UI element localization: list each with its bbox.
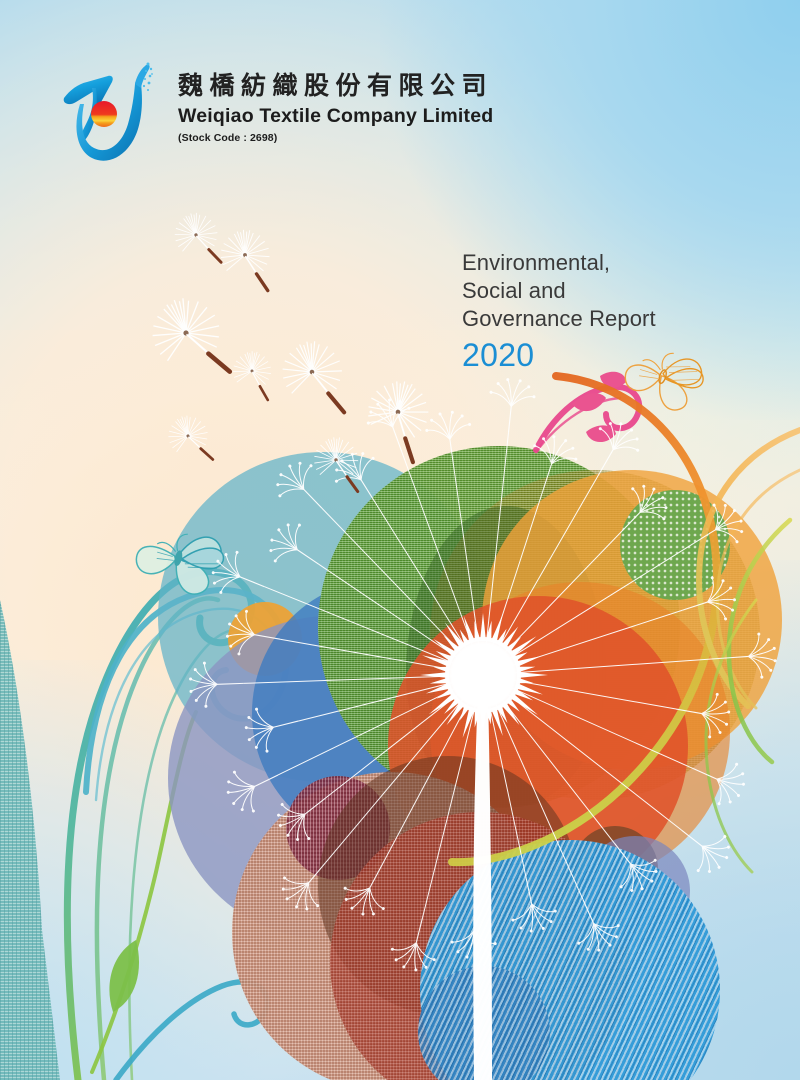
company-name-en: Weiqiao Textile Company Limited <box>178 104 493 128</box>
company-name-cn: 魏橋紡織股份有限公司 <box>178 72 493 100</box>
title-line-3: Governance Report <box>462 305 656 333</box>
brand-text-block: 魏橋紡織股份有限公司 Weiqiao Textile Company Limit… <box>178 58 493 144</box>
stock-code-label: (Stock Code : 2698) <box>178 132 493 144</box>
report-title-block: Environmental, Social and Governance Rep… <box>462 249 656 375</box>
sun-icon <box>91 101 117 127</box>
weiqiao-w-sun-logo <box>56 58 164 163</box>
brand-header: 魏橋紡織股份有限公司 Weiqiao Textile Company Limit… <box>56 58 493 163</box>
report-cover: 魏橋紡織股份有限公司 Weiqiao Textile Company Limit… <box>0 0 800 1080</box>
artwork-circle-green-dotted <box>620 490 730 600</box>
title-line-2: Social and <box>462 277 656 305</box>
title-line-1: Environmental, <box>462 249 656 277</box>
report-year: 2020 <box>462 335 656 375</box>
